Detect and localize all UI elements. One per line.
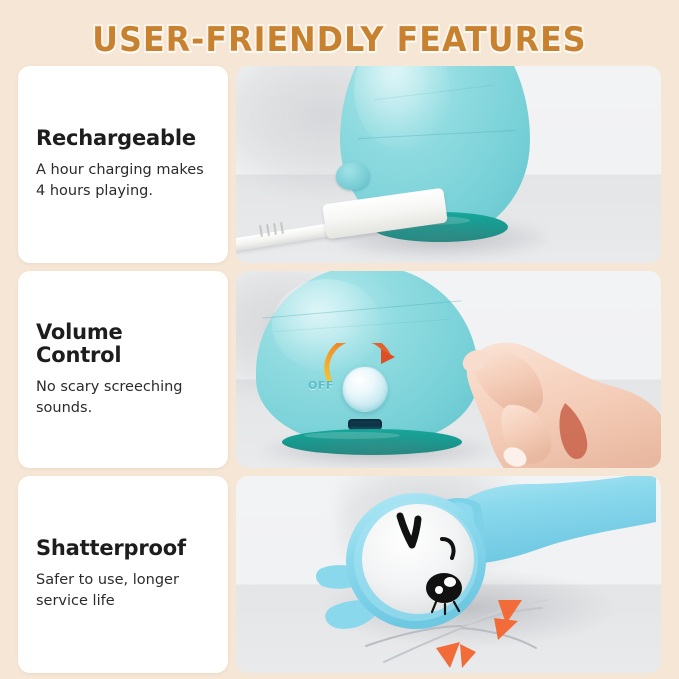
- volume-knob[interactable]: [342, 366, 388, 412]
- feature-body: A hour charging makes 4 hours playing.: [36, 160, 210, 201]
- feature-heading: Volume Control: [36, 321, 210, 367]
- feature-heading: Shatterproof: [36, 537, 210, 560]
- hand-icon: [439, 331, 661, 468]
- nose-dot: [435, 586, 443, 594]
- nose-highlight: [444, 577, 456, 587]
- feature-rows: Rechargeable A hour charging makes 4 hou…: [0, 66, 679, 673]
- feature-row-rechargeable: Rechargeable A hour charging makes 4 hou…: [0, 66, 679, 271]
- feature-row-volume-control: Volume Control No scary screeching sound…: [0, 271, 679, 476]
- feature-row-shatterproof: Shatterproof Safer to use, longer servic…: [0, 476, 679, 673]
- feature-card-volume-control: Volume Control No scary screeching sound…: [18, 271, 228, 468]
- knob-off-label: OFF: [308, 379, 334, 392]
- page-title: USER-FRIENDLY FEATURES: [24, 20, 655, 60]
- feature-body: Safer to use, longer service life: [36, 570, 210, 611]
- toy-side-button-icon: [336, 162, 370, 190]
- feature-image-shatterproof: [236, 476, 661, 673]
- feature-heading: Rechargeable: [36, 127, 210, 150]
- feature-card-shatterproof: Shatterproof Safer to use, longer servic…: [18, 476, 228, 673]
- feature-body: No scary screeching sounds.: [36, 377, 210, 418]
- feature-image-rechargeable: [236, 66, 661, 263]
- feature-image-volume-control: OFF: [236, 271, 661, 468]
- infographic-page: USER-FRIENDLY FEATURES Rechargeable A ho…: [0, 0, 679, 679]
- feature-card-rechargeable: Rechargeable A hour charging makes 4 hou…: [18, 66, 228, 263]
- tipped-toy-illustration: [236, 476, 656, 673]
- nose-icon: [426, 573, 462, 603]
